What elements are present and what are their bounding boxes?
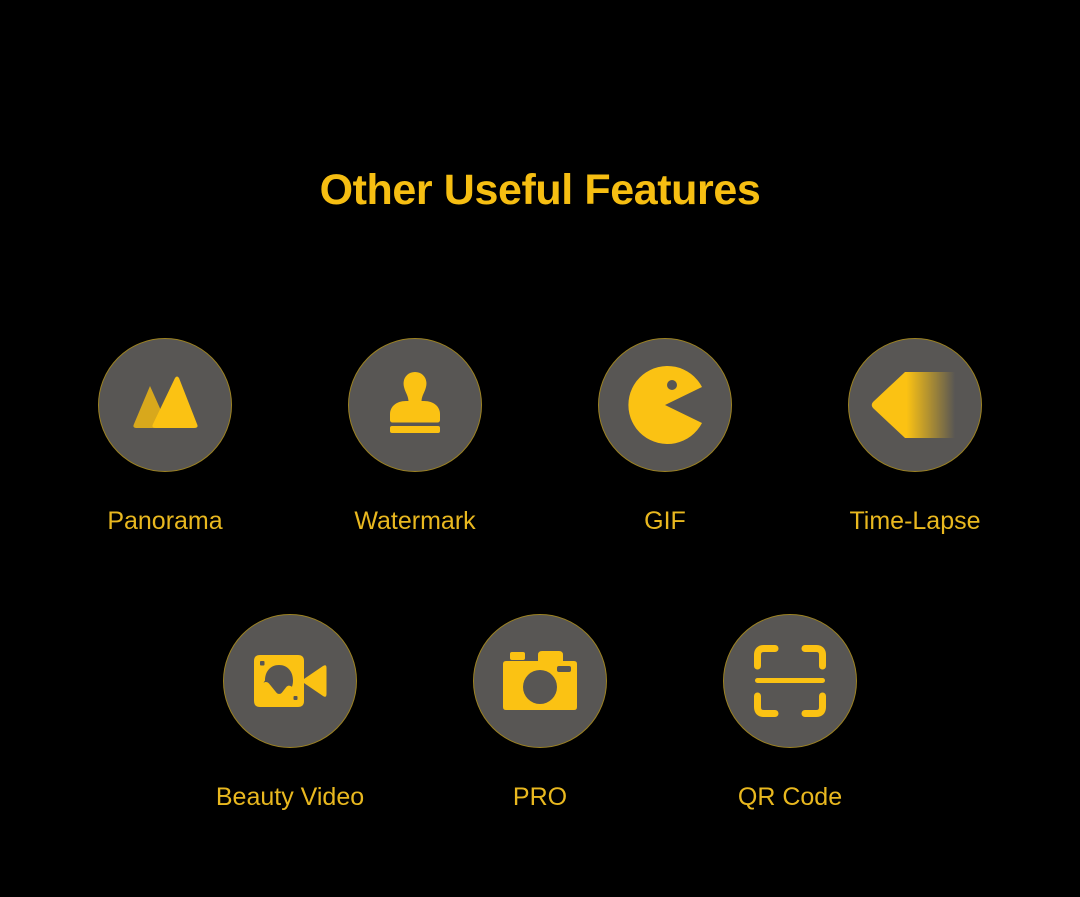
icon-badge-panorama[interactable]: [98, 338, 232, 472]
feature-label-beauty-video: Beauty Video: [216, 782, 364, 812]
feature-qr-code[interactable]: QR Code: [665, 614, 915, 812]
feature-beauty-video[interactable]: Beauty Video: [165, 614, 415, 812]
feature-label-qr-code: QR Code: [738, 782, 842, 812]
video-camera-face-icon: [252, 653, 328, 709]
icon-badge-pro[interactable]: [473, 614, 607, 748]
icon-badge-time-lapse[interactable]: [848, 338, 982, 472]
stamp-icon: [382, 371, 448, 439]
icon-badge-beauty-video[interactable]: [223, 614, 357, 748]
feature-row-2: Beauty Video PRO: [0, 614, 1080, 812]
icon-badge-qr-code[interactable]: [723, 614, 857, 748]
feature-label-pro: PRO: [513, 782, 567, 812]
feature-pro[interactable]: PRO: [415, 614, 665, 812]
feature-gif[interactable]: GIF: [540, 338, 790, 536]
icon-badge-gif[interactable]: [598, 338, 732, 472]
feature-time-lapse[interactable]: Time-Lapse: [790, 338, 1040, 536]
feature-label-watermark: Watermark: [354, 506, 475, 536]
pacman-icon: [626, 366, 704, 444]
feature-label-time-lapse: Time-Lapse: [849, 506, 980, 536]
page-title: Other Useful Features: [0, 162, 1080, 218]
mountains-icon: [127, 374, 203, 436]
feature-panorama[interactable]: Panorama: [40, 338, 290, 536]
feature-row-1: Panorama Watermark: [0, 338, 1080, 536]
camera-icon: [502, 650, 578, 712]
feature-label-gif: GIF: [644, 506, 686, 536]
icon-badge-watermark[interactable]: [348, 338, 482, 472]
feature-label-panorama: Panorama: [107, 506, 222, 536]
slide-canvas: Other Useful Features Panorama: [0, 0, 1080, 897]
feature-watermark[interactable]: Watermark: [290, 338, 540, 536]
fast-arrow-icon: [871, 368, 959, 442]
qr-scan-icon: [754, 645, 826, 717]
